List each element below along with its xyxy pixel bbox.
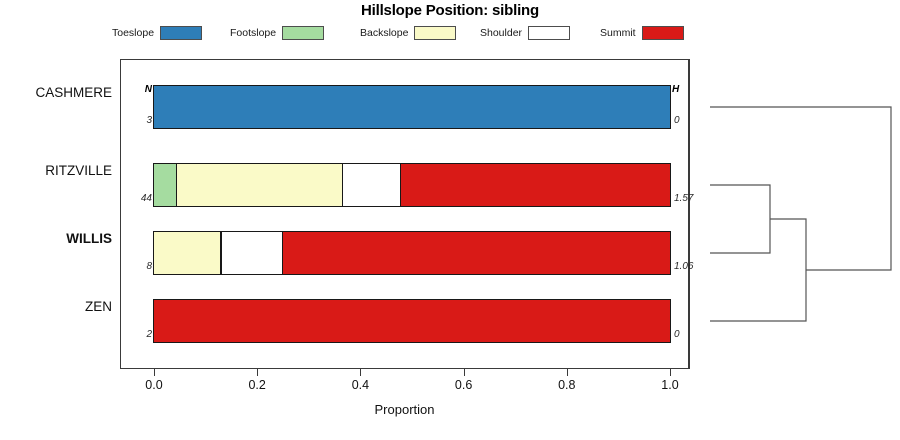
n-value-ritzville: 44 [128,193,152,204]
dendrogram-branch [710,185,770,253]
legend-item-label: Toeslope [112,27,154,39]
h-value-ritzville: 1.57 [674,193,714,204]
n-value-zen: 2 [128,329,152,340]
taxon-label-zen: ZEN [0,299,118,314]
legend-item-label: Backslope [360,27,408,39]
stacked-bar-zen [154,299,670,343]
bar-segment-backslope [176,163,343,207]
legend-item-label: Footslope [230,27,276,39]
stacked-bar-cashmere [154,85,670,129]
h-value-cashmere: 0 [674,115,714,126]
legend-swatch-backslope [414,26,456,40]
bar-segment-summit [400,163,671,207]
stacked-bar-willis [154,231,670,275]
taxon-label-willis: WILLIS [0,231,118,246]
legend-item-label: Shoulder [480,27,522,39]
x-tick-mark [464,369,465,376]
x-tick-label: 0.0 [134,378,174,392]
dendrogram-branch [710,107,891,270]
bar-segment-shoulder [220,231,283,275]
x-tick-label: 0.8 [547,378,587,392]
x-tick-mark [154,369,155,376]
legend: ToeslopeFootslopeBackslopeShoulderSummit [112,25,692,43]
legend-swatch-shoulder [528,26,570,40]
bar-segment-shoulder [342,163,402,207]
page-title: Hillslope Position: sibling [0,2,900,19]
legend-swatch-toeslope [160,26,202,40]
n-value-cashmere: 3 [128,115,152,126]
x-tick-label: 0.6 [444,378,484,392]
h-value-zen: 0 [674,329,714,340]
taxon-label-cashmere: CASHMERE [0,85,118,100]
h-value-willis: 1.06 [674,261,714,272]
legend-swatch-footslope [282,26,324,40]
taxon-label-ritzville: RITZVILLE [0,163,118,178]
hillslope-position-chart: Hillslope Position: sibling ToeslopeFoot… [0,0,900,440]
dendrogram-branch [710,219,806,321]
x-tick-mark [257,369,258,376]
x-tick-mark [670,369,671,376]
x-tick-mark [567,369,568,376]
h-column-header: H [672,84,712,95]
legend-item-shoulder[interactable]: Shoulder [480,25,570,41]
n-column-header: N [128,84,152,95]
x-tick-mark [360,369,361,376]
bar-segment-summit [153,299,671,343]
bar-segment-footslope [153,163,178,207]
bar-segment-summit [282,231,671,275]
stacked-bar-ritzville [154,163,670,207]
legend-item-label: Summit [600,27,636,39]
legend-item-toeslope[interactable]: Toeslope [112,25,202,41]
legend-item-backslope[interactable]: Backslope [360,25,456,41]
legend-item-summit[interactable]: Summit [600,25,684,41]
bar-segment-toeslope [153,85,671,129]
n-value-willis: 8 [128,261,152,272]
x-tick-label: 0.4 [340,378,380,392]
x-tick-label: 0.2 [237,378,277,392]
dendrogram [689,59,900,369]
bar-segment-backslope [153,231,222,275]
legend-item-footslope[interactable]: Footslope [230,25,324,41]
x-tick-label: 1.0 [650,378,690,392]
legend-swatch-summit [642,26,684,40]
x-axis-title: Proportion [120,402,689,417]
